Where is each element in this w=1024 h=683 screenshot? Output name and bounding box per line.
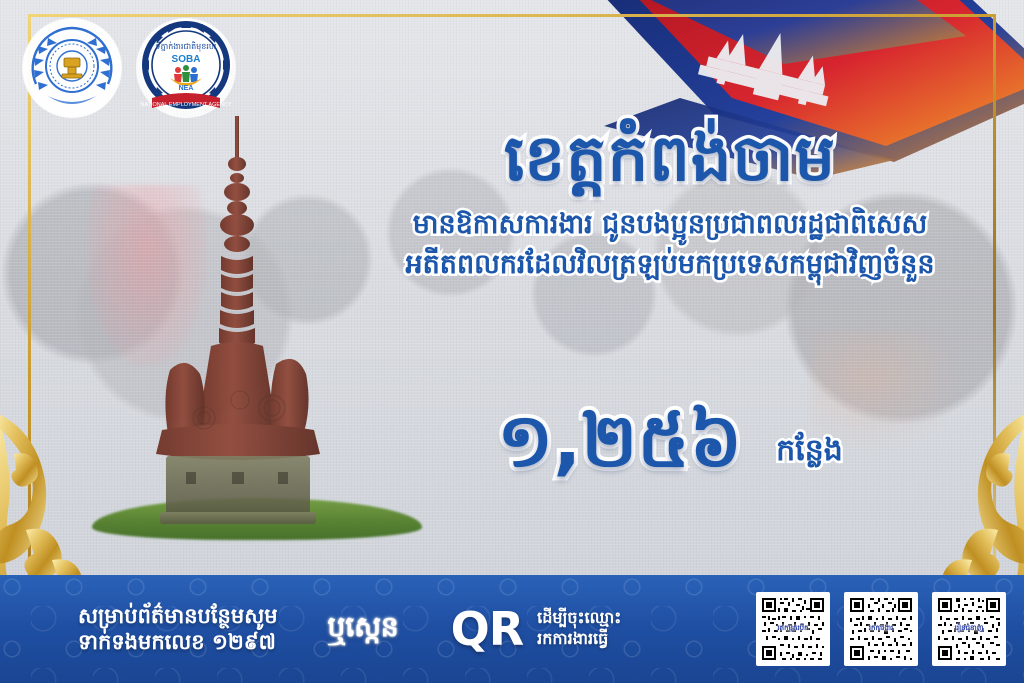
svg-text:ទីភ្នាក់ងារជាតិមុខរបរ: ទីភ្នាក់ងារជាតិមុខរបរ	[156, 41, 217, 52]
qr-code-label: រៀនជំនាញ	[955, 624, 984, 634]
qr-caption: ដើម្បីចុះឈ្មោះ រកការងារធ្វើ	[537, 608, 621, 650]
count-row: ១,២៥៦ កន្លែង	[336, 404, 1004, 478]
vacancy-count-unit: កន្លែង	[776, 436, 843, 478]
footer-bar: សម្រាប់ព័ត៌មានបន្ថែមសូម ទាក់ទងមកលេខ ១២៩៧…	[0, 575, 1024, 683]
poster-canvas: ទីភ្នាក់ងារជាតិមុខរបរ SOBA NEA NATIONAL …	[0, 0, 1024, 683]
qr-caption-line-2: រកការងារធ្វើ	[537, 629, 621, 650]
subline-1: មានឱកាសការងារ ជូនបងប្អូនប្រជាពលរដ្ឋជាពិស…	[336, 209, 1004, 242]
contact-line-1: សម្រាប់ព័ត៌មានបន្ថែមសូម	[78, 603, 278, 629]
contact-info: សម្រាប់ព័ត៌មានបន្ថែមសូម ទាក់ទងមកលេខ ១២៩៧	[78, 603, 278, 655]
svg-text:NATIONAL EMPLOYMENT AGENCY: NATIONAL EMPLOYMENT AGENCY	[140, 102, 232, 108]
scan-label: ឬស្កេន	[318, 606, 409, 653]
qr-code-label: រកកម្មករបីក	[777, 624, 808, 634]
emblem-group: ទីភ្នាក់ងារជាតិមុខរបរ SOBA NEA NATIONAL …	[22, 18, 236, 118]
svg-text:SOBA: SOBA	[172, 54, 201, 65]
svg-text:NEA: NEA	[179, 85, 194, 92]
qr-code-list: រកកម្មករបីក	[756, 592, 1006, 666]
qr-code-find-worker[interactable]: រកកម្មករបីក	[756, 592, 830, 666]
qr-code-label: រកការងារ	[869, 624, 893, 634]
qr-code-find-job[interactable]: រកការងារ	[844, 592, 918, 666]
vacancy-count: ១,២៥៦	[497, 404, 742, 478]
qr-code-learn-skill[interactable]: រៀនជំនាញ	[932, 592, 1006, 666]
headline-block: ខេត្តកំពង់ចាម មានឱកាសការងារ ជូនបងប្អូនប្…	[336, 126, 1004, 282]
national-employment-agency-emblem: ទីភ្នាក់ងារជាតិមុខរបរ SOBA NEA NATIONAL …	[136, 18, 236, 118]
ministry-of-labour-emblem	[22, 18, 122, 118]
qr-word: QR	[451, 602, 524, 656]
contact-line-2: ទាក់ទងមកលេខ ១២៩៧	[78, 629, 278, 655]
subline-2: អតីតពលករដែលវិលត្រឡប់មកប្រទេសកម្ពុជាវិញចំ…	[336, 249, 1004, 282]
page-title: ខេត្តកំពង់ចាម	[336, 126, 1004, 193]
qr-caption-line-1: ដើម្បីចុះឈ្មោះ	[537, 608, 621, 629]
